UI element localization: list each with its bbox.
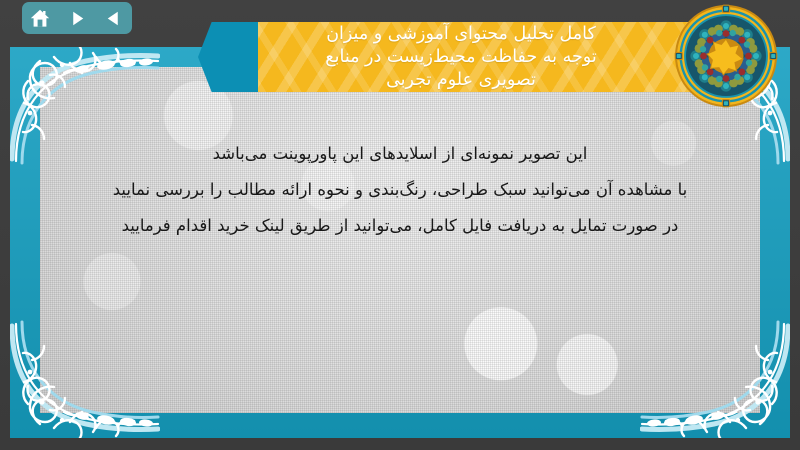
- previous-arrow-icon[interactable]: [101, 6, 127, 30]
- home-icon[interactable]: [27, 6, 53, 30]
- navigation-toolbar: [22, 2, 132, 34]
- slide-body-text: این تصویر نمونه‌ای از اسلایدهای این پاور…: [40, 136, 760, 244]
- persian-medallion-icon: [674, 4, 778, 108]
- body-line: با مشاهده آن می‌توانید سبک طراحی، رنگ‌بن…: [40, 172, 760, 208]
- presentation-slide: کامل تحلیل محتوای آموزشی و میزان توجه به…: [0, 0, 800, 450]
- next-arrow-icon[interactable]: [64, 6, 90, 30]
- body-line: این تصویر نمونه‌ای از اسلایدهای این پاور…: [40, 136, 760, 172]
- slide-title-banner: کامل تحلیل محتوای آموزشی و میزان توجه به…: [258, 22, 746, 92]
- page-title: کامل تحلیل محتوای آموزشی و میزان توجه به…: [258, 22, 746, 92]
- body-line: در صورت تمایل به دریافت فایل کامل، می‌تو…: [40, 208, 760, 244]
